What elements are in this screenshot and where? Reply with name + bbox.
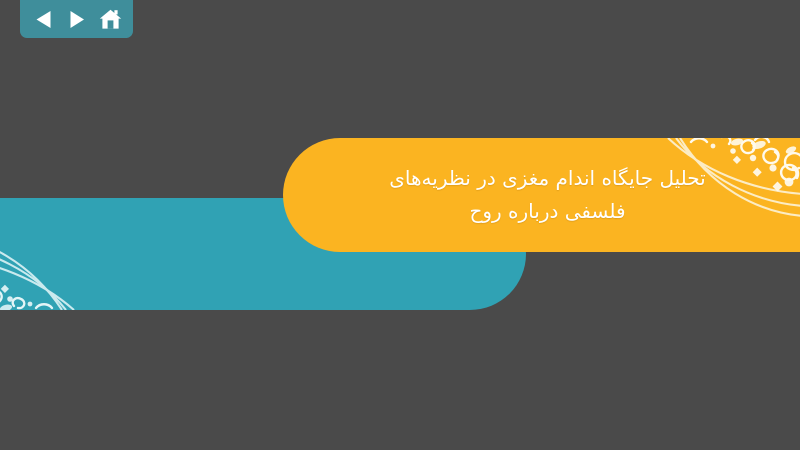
home-icon (99, 9, 122, 30)
arabesque-ornament-icon (0, 198, 130, 310)
home-button[interactable] (96, 6, 124, 32)
back-button[interactable] (29, 6, 57, 32)
navigation-bar (20, 0, 133, 38)
forward-button[interactable] (63, 6, 91, 32)
triangle-right-icon (68, 10, 85, 29)
slide-canvas: تحلیل جایگاه اندام مغزی در نظریه‌های فلس… (0, 0, 800, 450)
triangle-left-icon (35, 10, 52, 29)
arabesque-ornament-icon (628, 138, 800, 252)
orange-accent-band (283, 138, 800, 252)
